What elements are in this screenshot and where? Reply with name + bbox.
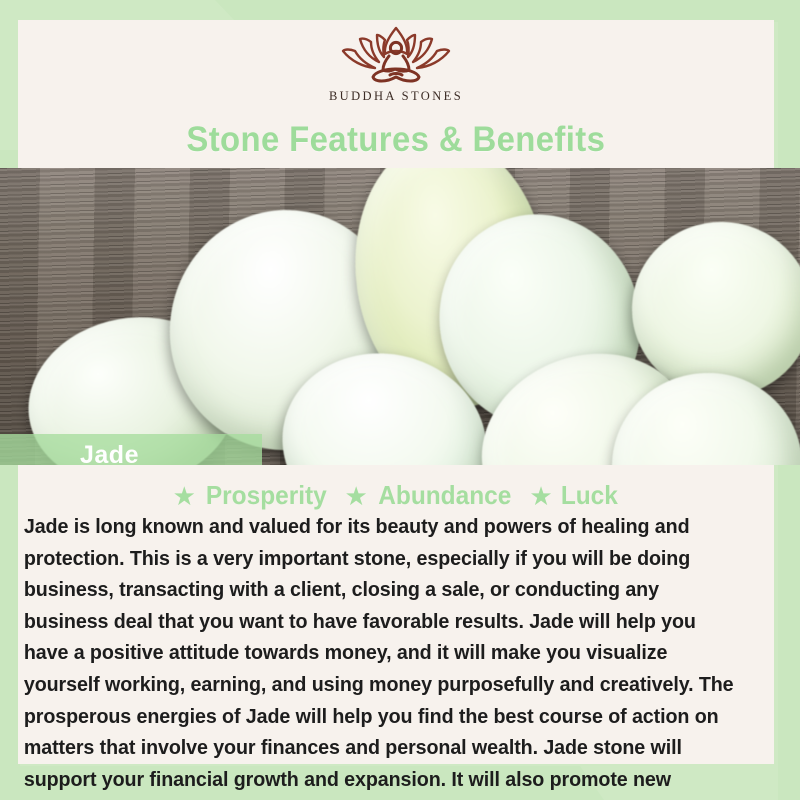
stone-name-banner: Jade xyxy=(0,434,262,465)
decor-band-top xyxy=(0,0,800,22)
brand-header: BUDDHA STONES xyxy=(18,20,774,120)
benefit-item: ★ Prosperity xyxy=(173,480,331,511)
jade-stones-photo: Jade xyxy=(0,168,800,465)
star-icon: ★ xyxy=(529,483,552,509)
benefit-label: Prosperity xyxy=(206,480,327,511)
lotus-meditation-icon xyxy=(321,24,471,86)
brand-wordmark: BUDDHA STONES xyxy=(329,89,463,104)
benefit-label: Abundance xyxy=(378,480,511,511)
stone-description: Jade is long known and valued for its be… xyxy=(20,512,746,800)
benefit-item: ★ Luck xyxy=(529,480,619,511)
page-surface: BUDDHA STONES Stone Features & Benefits … xyxy=(18,20,774,764)
star-icon: ★ xyxy=(345,483,368,509)
infographic-canvas: BUDDHA STONES Stone Features & Benefits … xyxy=(0,0,800,800)
stone-name-label: Jade xyxy=(80,441,139,466)
benefit-label: Luck xyxy=(561,480,618,511)
benefits-row: ★ Prosperity ★ Abundance ★ Luck xyxy=(18,480,774,511)
page-title: Stone Features & Benefits xyxy=(187,120,606,160)
star-icon: ★ xyxy=(173,483,196,509)
title-band: Stone Features & Benefits xyxy=(18,120,774,160)
benefit-item: ★ Abundance xyxy=(345,480,516,511)
